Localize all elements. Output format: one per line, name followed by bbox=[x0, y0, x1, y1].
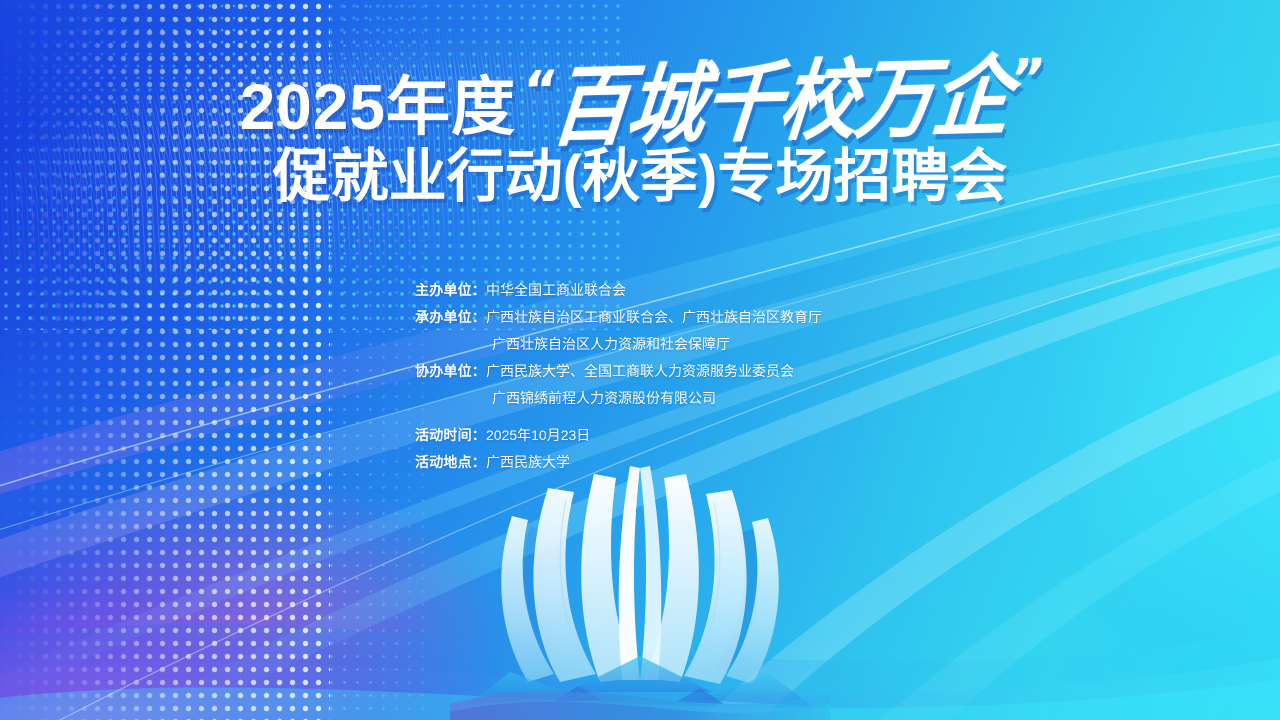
organizer-label: 主办单位： bbox=[415, 282, 486, 298]
coorganizer-value-line2: 广西锦绣前程人力资源股份有限公司 bbox=[492, 390, 716, 406]
title-campaign: “百城千校万企” bbox=[516, 56, 1045, 145]
info-row-venue: 活动地点：广西民族大学 bbox=[415, 449, 822, 476]
event-poster: 2025年度 “百城千校万企” 促就业行动(秋季)专场招聘会 主办单位：中华全国… bbox=[0, 0, 1280, 720]
info-spacer bbox=[415, 412, 822, 422]
info-row-host: 承办单位：广西壮族自治区工商业联合会、广西壮族自治区教育厅 bbox=[415, 304, 822, 331]
title-line-one: 2025年度 “百城千校万企” bbox=[0, 62, 1280, 139]
title-campaign-text: 百城千校万企 bbox=[547, 57, 1012, 148]
info-row-coorganizer: 协办单位：广西民族大学、全国工商联人力资源服务业委员会 bbox=[415, 358, 822, 385]
venue-label: 活动地点： bbox=[415, 454, 486, 470]
coorganizer-value-line1: 广西民族大学、全国工商联人力资源服务业委员会 bbox=[486, 363, 794, 379]
info-row-organizer: 主办单位：中华全国工商业联合会 bbox=[415, 277, 822, 304]
info-row-date: 活动时间：2025年10月23日 bbox=[415, 422, 822, 449]
coorganizer-value-line2-row: 广西锦绣前程人力资源股份有限公司 bbox=[415, 385, 822, 412]
host-value-line2: 广西壮族自治区人力资源和社会保障厅 bbox=[492, 336, 730, 352]
event-info-block: 主办单位：中华全国工商业联合会 承办单位：广西壮族自治区工商业联合会、广西壮族自… bbox=[415, 277, 822, 476]
organizer-value: 中华全国工商业联合会 bbox=[486, 282, 626, 298]
guangxi-landmark-building-icon bbox=[450, 460, 830, 720]
host-label: 承办单位： bbox=[415, 309, 486, 325]
host-value-line1: 广西壮族自治区工商业联合会、广西壮族自治区教育厅 bbox=[486, 309, 822, 325]
quote-close: ” bbox=[1007, 49, 1043, 110]
venue-value: 广西民族大学 bbox=[486, 454, 570, 470]
date-value: 2025年10月23日 bbox=[486, 427, 590, 443]
coorganizer-label: 协办单位： bbox=[415, 363, 486, 379]
host-value-line2-row: 广西壮族自治区人力资源和社会保障厅 bbox=[415, 331, 822, 358]
poster-title-block: 2025年度 “百城千校万企” 促就业行动(秋季)专场招聘会 bbox=[0, 62, 1280, 209]
title-year: 2025年度 bbox=[240, 75, 516, 139]
date-label: 活动时间： bbox=[415, 427, 486, 443]
